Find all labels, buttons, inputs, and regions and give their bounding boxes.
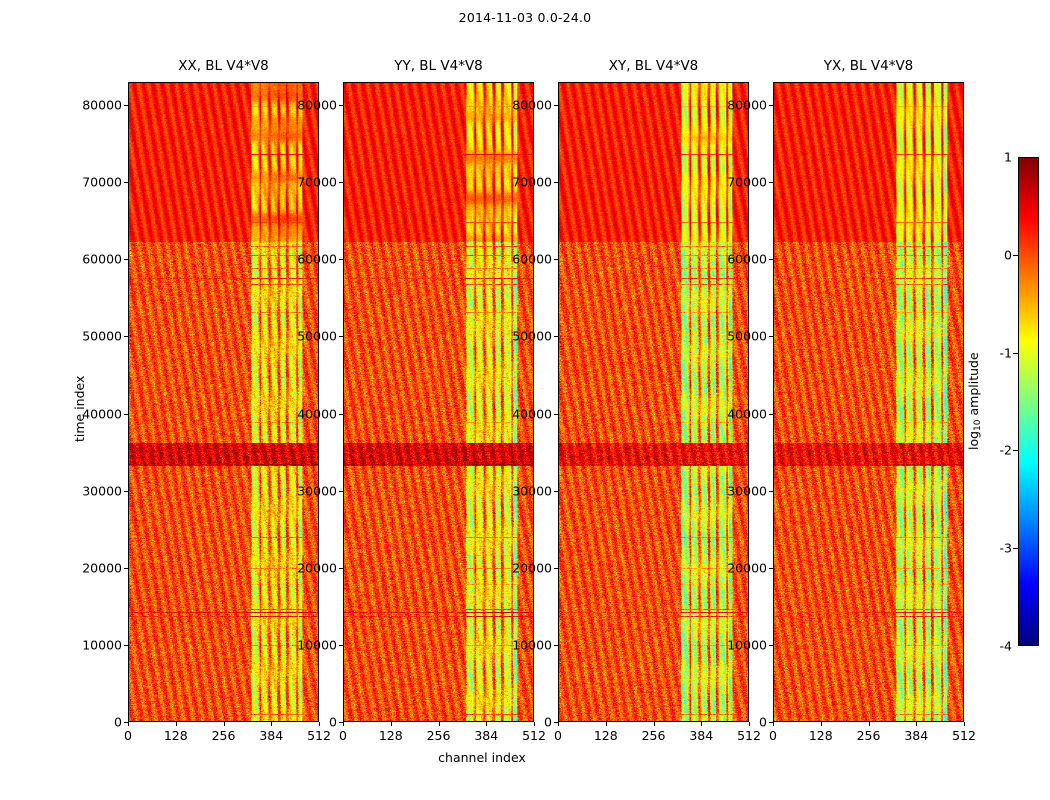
x-tick-label: 256 (642, 728, 666, 743)
colorbar-tick-label: 0 (984, 247, 1012, 262)
y-tick-label: 80000 (496, 98, 552, 113)
y-tick-label: 70000 (496, 175, 552, 190)
x-tick-label: 128 (379, 728, 403, 743)
x-tick-label: 384 (474, 728, 498, 743)
x-tick-label: 128 (594, 728, 618, 743)
x-tick-label: 384 (904, 728, 928, 743)
y-tick-mark (339, 259, 343, 260)
x-tick-label: 0 (124, 728, 132, 743)
y-tick-label: 40000 (66, 406, 122, 421)
x-tick-mark (439, 722, 440, 726)
y-tick-mark (339, 182, 343, 183)
y-tick-label: 40000 (711, 406, 767, 421)
x-tick-label: 384 (259, 728, 283, 743)
x-tick-label: 128 (164, 728, 188, 743)
x-tick-mark (701, 722, 702, 726)
x-tick-mark (916, 722, 917, 726)
x-tick-mark (391, 722, 392, 726)
y-tick-mark (769, 105, 773, 106)
colorbar-label-prefix: log (966, 430, 981, 449)
y-tick-mark (339, 491, 343, 492)
y-tick-mark (769, 414, 773, 415)
y-tick-label: 0 (66, 715, 122, 730)
y-tick-mark (124, 491, 128, 492)
heatmap-image-yx (773, 82, 964, 722)
y-tick-label: 60000 (711, 252, 767, 267)
y-tick-label: 60000 (281, 252, 337, 267)
y-tick-mark (124, 259, 128, 260)
x-axis-label: channel index (0, 750, 964, 765)
y-tick-mark (124, 105, 128, 106)
y-tick-label: 30000 (281, 483, 337, 498)
colorbar-label-suffix: amplitude (966, 352, 981, 419)
y-tick-label: 20000 (496, 560, 552, 575)
x-tick-label: 512 (952, 728, 976, 743)
y-tick-mark (124, 414, 128, 415)
y-tick-label: 10000 (711, 637, 767, 652)
x-tick-mark (654, 722, 655, 726)
y-tick-mark (554, 414, 558, 415)
y-tick-mark (339, 414, 343, 415)
y-tick-label: 50000 (281, 329, 337, 344)
y-tick-label: 40000 (496, 406, 552, 421)
y-tick-label: 70000 (281, 175, 337, 190)
y-tick-mark (554, 491, 558, 492)
x-tick-label: 256 (427, 728, 451, 743)
y-tick-label: 0 (281, 715, 337, 730)
x-tick-mark (343, 722, 344, 726)
y-tick-label: 20000 (711, 560, 767, 575)
y-tick-label: 10000 (496, 637, 552, 652)
colorbar[interactable] (1018, 157, 1039, 646)
y-tick-mark (769, 182, 773, 183)
colorbar-tick-mark (1013, 548, 1019, 549)
colorbar-tick-label: -2 (984, 443, 1012, 458)
figure-suptitle: 2014-11-03 0.0-24.0 (0, 10, 1050, 25)
colorbar-tick-label: -1 (984, 345, 1012, 360)
y-tick-label: 30000 (711, 483, 767, 498)
x-tick-label: 256 (212, 728, 236, 743)
y-tick-label: 30000 (496, 483, 552, 498)
y-tick-mark (769, 336, 773, 337)
x-tick-label: 512 (522, 728, 546, 743)
y-tick-mark (124, 182, 128, 183)
y-tick-mark (554, 568, 558, 569)
y-tick-mark (769, 645, 773, 646)
y-tick-label: 60000 (496, 252, 552, 267)
x-tick-mark (821, 722, 822, 726)
colorbar-tick-label: -4 (984, 639, 1012, 654)
y-tick-mark (124, 645, 128, 646)
y-tick-label: 80000 (281, 98, 337, 113)
y-tick-label: 40000 (281, 406, 337, 421)
x-tick-mark (773, 722, 774, 726)
figure-canvas: 2014-11-03 0.0-24.0 time index channel i… (0, 0, 1050, 800)
y-tick-mark (339, 336, 343, 337)
colorbar-tick-label: -3 (984, 541, 1012, 556)
y-tick-label: 50000 (496, 329, 552, 344)
y-tick-label: 80000 (66, 98, 122, 113)
y-tick-label: 0 (496, 715, 552, 730)
y-tick-mark (554, 182, 558, 183)
x-tick-label: 0 (339, 728, 347, 743)
colorbar-tick-label: 1 (984, 150, 1012, 165)
x-tick-label: 0 (769, 728, 777, 743)
x-tick-mark (606, 722, 607, 726)
x-tick-mark (128, 722, 129, 726)
y-tick-mark (339, 568, 343, 569)
colorbar-tick-mark (1013, 255, 1019, 256)
y-tick-label: 60000 (66, 252, 122, 267)
x-tick-label: 512 (737, 728, 761, 743)
y-tick-mark (339, 645, 343, 646)
colorbar-label-subscript: 10 (973, 419, 983, 430)
y-tick-label: 50000 (711, 329, 767, 344)
panel-title-xx: XX, BL V4*V8 (128, 58, 319, 74)
y-tick-label: 80000 (711, 98, 767, 113)
heatmap-panel-yx[interactable]: YX, BL V4*V8 (773, 82, 964, 722)
x-tick-mark (271, 722, 272, 726)
y-tick-mark (769, 568, 773, 569)
y-tick-label: 10000 (66, 637, 122, 652)
panel-title-yy: YY, BL V4*V8 (343, 58, 534, 74)
y-tick-mark (769, 491, 773, 492)
x-tick-label: 128 (809, 728, 833, 743)
x-tick-mark (558, 722, 559, 726)
y-tick-label: 70000 (66, 175, 122, 190)
x-tick-mark (869, 722, 870, 726)
panel-title-xy: XY, BL V4*V8 (558, 58, 749, 74)
y-tick-mark (769, 259, 773, 260)
x-tick-mark (964, 722, 965, 726)
colorbar-gradient (1018, 157, 1039, 646)
x-tick-label: 512 (307, 728, 331, 743)
y-tick-label: 0 (711, 715, 767, 730)
x-tick-mark (486, 722, 487, 726)
x-tick-mark (176, 722, 177, 726)
panel-title-yx: YX, BL V4*V8 (773, 58, 964, 74)
y-tick-mark (554, 645, 558, 646)
x-tick-label: 384 (689, 728, 713, 743)
y-tick-label: 10000 (281, 637, 337, 652)
x-tick-label: 256 (857, 728, 881, 743)
y-tick-mark (554, 259, 558, 260)
y-tick-mark (124, 336, 128, 337)
y-tick-label: 20000 (66, 560, 122, 575)
y-tick-label: 20000 (281, 560, 337, 575)
colorbar-tick-mark (1013, 353, 1019, 354)
y-tick-mark (554, 336, 558, 337)
y-tick-mark (124, 568, 128, 569)
y-tick-label: 50000 (66, 329, 122, 344)
y-tick-label: 70000 (711, 175, 767, 190)
y-tick-mark (554, 105, 558, 106)
y-tick-label: 30000 (66, 483, 122, 498)
x-tick-label: 0 (554, 728, 562, 743)
x-tick-mark (224, 722, 225, 726)
colorbar-tick-mark (1013, 450, 1019, 451)
colorbar-label: log10 amplitude (966, 352, 983, 450)
y-tick-mark (339, 105, 343, 106)
